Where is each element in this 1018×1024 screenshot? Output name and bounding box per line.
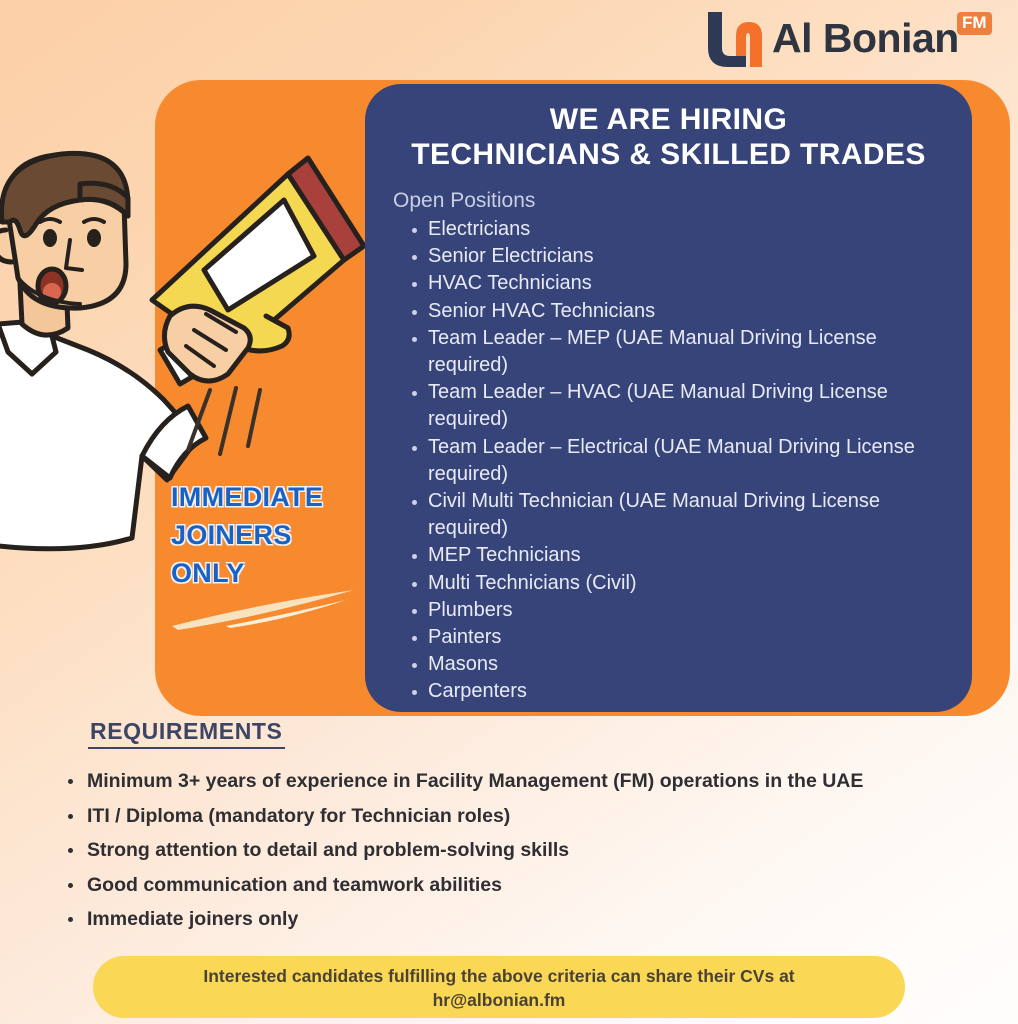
requirements-title: REQUIREMENTS xyxy=(88,718,285,749)
position-item: Senior HVAC Technicians xyxy=(411,298,950,325)
position-item: Plumbers xyxy=(411,597,950,624)
swoosh-decoration-icon xyxy=(168,586,368,632)
position-item: MEP Technicians xyxy=(411,542,950,569)
al-bonian-hook-mark-icon xyxy=(702,10,766,68)
requirement-item: Good communication and teamwork abilitie… xyxy=(62,869,962,903)
cta-text: Interested candidates fulfilling the abo… xyxy=(203,964,794,988)
headline-line-2: TECHNICIANS & SKILLED TRADES xyxy=(411,138,926,171)
brand-name: Al Bonian xyxy=(772,11,959,65)
position-item: Team Leader – HVAC (UAE Manual Driving L… xyxy=(411,379,950,433)
requirement-item: ITI / Diploma (mandatory for Technician … xyxy=(62,800,962,834)
brand-logo: Al Bonian FM xyxy=(700,6,1010,72)
immediate-line-2: JOINERS xyxy=(171,516,361,554)
open-positions-list: ElectriciansSenior ElectriciansHVAC Tech… xyxy=(387,216,950,706)
position-item: Electricians xyxy=(411,216,950,243)
cta-banner: Interested candidates fulfilling the abo… xyxy=(93,956,905,1018)
position-item: Senior Electricians xyxy=(411,243,950,270)
requirement-item: Minimum 3+ years of experience in Facili… xyxy=(62,765,962,799)
position-item: Team Leader – MEP (UAE Manual Driving Li… xyxy=(411,325,950,379)
position-item: Carpenters xyxy=(411,678,950,705)
job-posting-poster: Al Bonian FM xyxy=(0,0,1018,1024)
hiring-card: WE ARE HIRING TECHNICIANS & SKILLED TRAD… xyxy=(365,84,972,712)
cta-email[interactable]: hr@albonian.fm xyxy=(433,988,566,1012)
position-item: Masons xyxy=(411,651,950,678)
immediate-line-1: IMMEDIATE xyxy=(171,478,361,516)
headline-line-1: WE ARE HIRING xyxy=(550,103,787,136)
brand-badge-fm: FM xyxy=(957,12,992,35)
requirement-item: Immediate joiners only xyxy=(62,903,962,937)
position-item: HVAC Technicians xyxy=(411,270,950,297)
position-item: Civil Multi Technician (UAE Manual Drivi… xyxy=(411,488,950,542)
position-item: Multi Technicians (Civil) xyxy=(411,570,950,597)
requirements-list: Minimum 3+ years of experience in Facili… xyxy=(62,765,962,937)
hiring-headline: WE ARE HIRING TECHNICIANS & SKILLED TRAD… xyxy=(387,102,950,172)
open-positions-label: Open Positions xyxy=(393,188,950,214)
requirements-section: REQUIREMENTS Minimum 3+ years of experie… xyxy=(62,718,962,938)
immediate-joiners-callout: IMMEDIATE JOINERS ONLY xyxy=(171,478,361,592)
requirement-item: Strong attention to detail and problem-s… xyxy=(62,834,962,868)
position-item: Painters xyxy=(411,624,950,651)
position-item: Team Leader – Electrical (UAE Manual Dri… xyxy=(411,434,950,488)
